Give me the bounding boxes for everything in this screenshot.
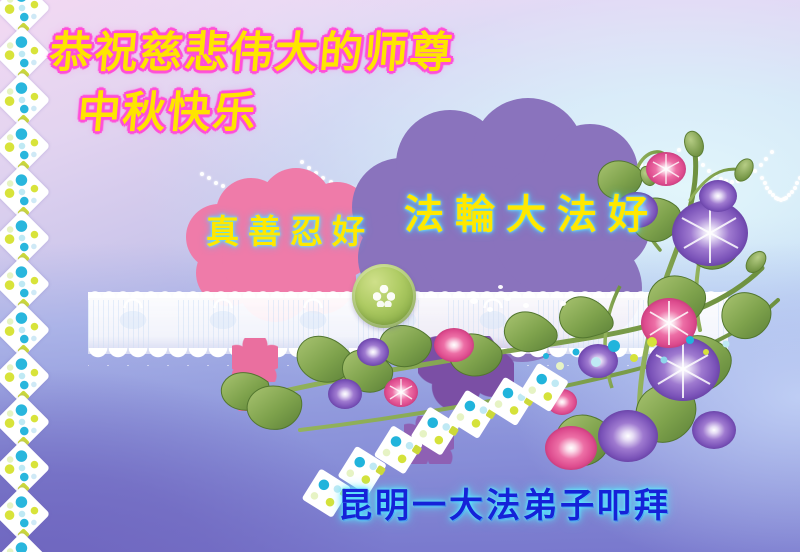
sparkle-dot <box>504 296 511 301</box>
sparkle-dot <box>487 307 493 312</box>
pink-blossom-large <box>232 338 278 382</box>
lace-scallop-edge <box>88 348 728 366</box>
sparkle-dot <box>498 285 503 289</box>
left-diamond-ribbon <box>2 0 46 552</box>
sparkle-dot <box>560 301 566 306</box>
ribbon-diamond <box>0 532 50 552</box>
purple-bubble-text: 法輪大法好 <box>404 182 659 240</box>
title-line-2: 中秋快乐 <box>75 78 260 140</box>
greeting-card: 真善忍好 法輪大法好 恭祝慈悲伟大的师尊 中秋快乐 昆明一大法弟子叩拜 <box>0 0 800 552</box>
title-line-1: 恭祝慈悲伟大的师尊 <box>47 18 457 80</box>
sparkle-dot <box>470 298 478 304</box>
sparkle-dot <box>543 293 548 297</box>
pink-bubble-text: 真善忍好 <box>206 205 374 253</box>
pink-blossom-small <box>238 386 264 411</box>
green-flower-button[interactable] <box>352 264 416 328</box>
signature-text: 昆明一大法弟子叩拜 <box>338 478 671 527</box>
sparkle-dot <box>523 303 529 308</box>
